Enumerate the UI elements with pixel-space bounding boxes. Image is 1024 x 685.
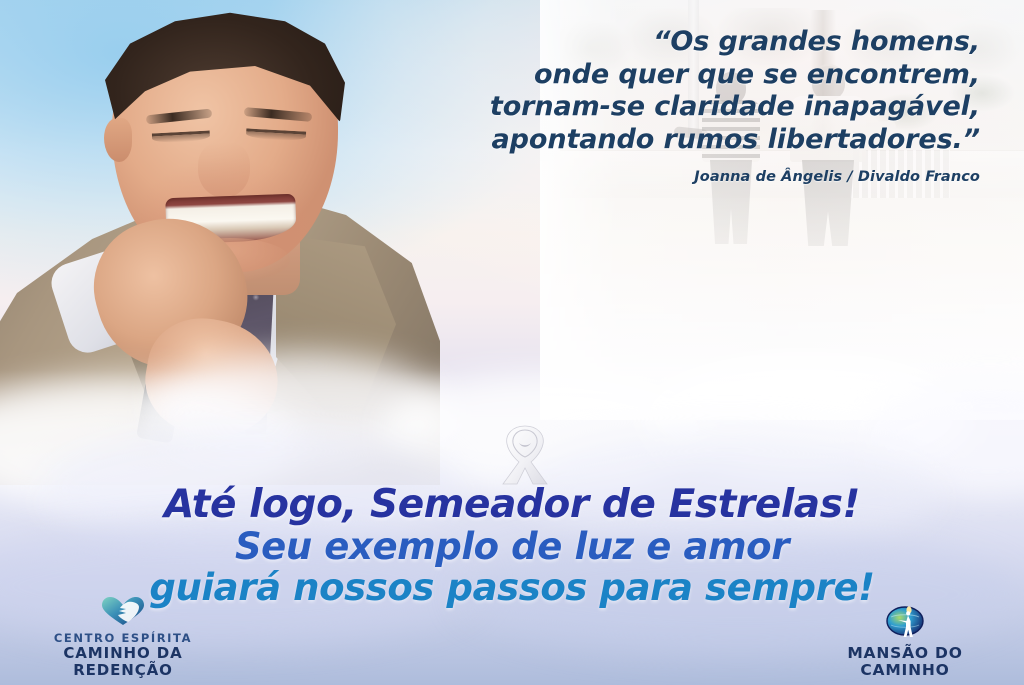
quote-line-3: tornam-se claridade inapagável, — [420, 91, 980, 124]
logo-centro-espirita: CENTRO ESPÍRITA CAMINHO DA REDENÇÃO — [18, 596, 228, 679]
quote-line-1: “Os grandes homens, — [420, 26, 980, 59]
globe-torch-figure-icon — [800, 605, 1010, 643]
portrait-ear — [104, 118, 132, 162]
memorial-poster: “Os grandes homens, onde quer que se enc… — [0, 0, 1024, 685]
quote-attribution: Joanna de Ângelis / Divaldo Franco — [420, 169, 980, 185]
quote-line-2: onde quer que se encontrem, — [420, 59, 980, 92]
quote-line-4: apontando rumos libertadores.” — [420, 124, 980, 157]
logo-right-line1: MANSÃO DO CAMINHO — [800, 645, 1010, 679]
white-ribbon-icon — [489, 410, 561, 488]
headline-block: Até logo, Semeador de Estrelas! Seu exem… — [0, 484, 1024, 608]
headline-line-1: Até logo, Semeador de Estrelas! — [0, 484, 1024, 526]
portrait-divaldo — [0, 0, 470, 470]
portrait-nose — [198, 142, 250, 198]
headline-line-2: Seu exemplo de luz e amor — [0, 526, 1024, 567]
logo-mansao-do-caminho: MANSÃO DO CAMINHO — [800, 605, 1010, 679]
heart-hands-icon — [18, 596, 228, 630]
logo-left-line2: CAMINHO DA REDENÇÃO — [18, 645, 228, 679]
quote-block: “Os grandes homens, onde quer que se enc… — [420, 26, 980, 185]
